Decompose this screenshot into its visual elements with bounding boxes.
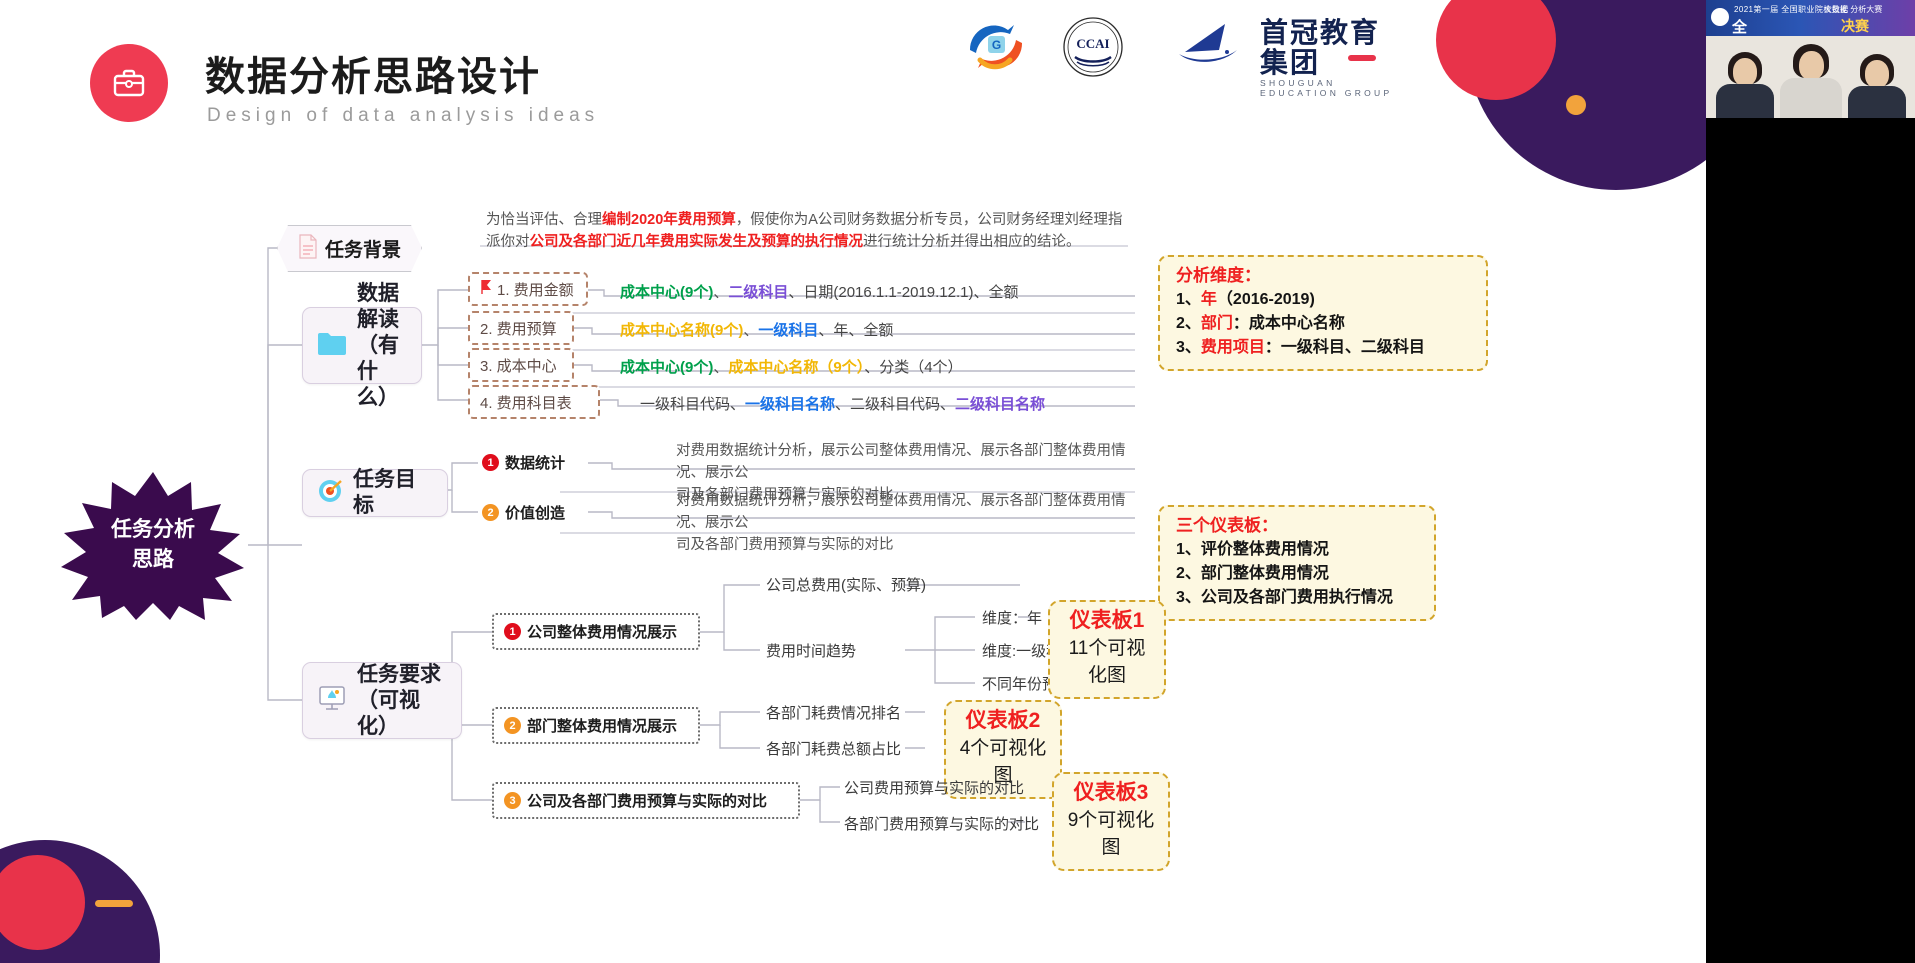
folder-icon bbox=[317, 330, 347, 361]
page-subtitle: Design of data analysis ideas bbox=[207, 105, 599, 127]
data-item-4[interactable]: 4. 费用科目表 bbox=[468, 385, 600, 419]
ccai-logo: CCAI bbox=[1062, 16, 1124, 78]
goal-item-1[interactable]: 1 数据统计 bbox=[482, 452, 565, 473]
req-2-child-2: 各部门耗费总额占比 bbox=[766, 738, 901, 759]
callout-line-2: 2、部门：成本中心名称 bbox=[1176, 312, 1472, 336]
node-task-background[interactable]: 任务背景 bbox=[277, 225, 422, 272]
data-item-1-label: 1. 费用金额 bbox=[497, 279, 574, 300]
req-1-title: 公司整体费用情况展示 bbox=[527, 621, 677, 642]
bg-p1b: ，假使你为A公司财务数据分析专员，公司财务经理刘经理指 bbox=[736, 212, 1123, 228]
target-icon bbox=[317, 478, 343, 509]
field-run-1: 一级科目名称 bbox=[745, 396, 835, 413]
req-2-number: 2 bbox=[504, 717, 521, 734]
di-l1: 数据解读 bbox=[357, 282, 399, 331]
field-run-3: 、年、全额 bbox=[818, 322, 893, 339]
dashboard-2-title: 仪表板2 bbox=[959, 707, 1047, 735]
bg-p2hl: 公司及各部门近几年费用实际发生及预算的执行情况 bbox=[530, 234, 864, 250]
participant-3 bbox=[1848, 54, 1906, 118]
bg-p2b: 进行统计分析并得出相应的结论。 bbox=[863, 234, 1081, 250]
requirement-item-3[interactable]: 3 公司及各部门费用预算与实际的对比 bbox=[492, 782, 800, 819]
node-task-requirement[interactable]: 任务要求 （可视化） bbox=[302, 662, 462, 739]
svg-text:CCAI: CCAI bbox=[1076, 36, 1109, 51]
decor-dot-orange bbox=[1566, 95, 1586, 115]
data-interpretation-label: 数据解读 （有什么） bbox=[357, 281, 407, 411]
data-item-2[interactable]: 2. 费用预算 bbox=[468, 311, 574, 345]
data-item-2-label: 2. 费用预算 bbox=[480, 318, 557, 339]
dashboard-1-title: 仪表板1 bbox=[1063, 607, 1151, 635]
page-title: 数据分析思路设计 bbox=[205, 44, 541, 102]
goal-2-number: 2 bbox=[482, 504, 499, 521]
dashboard-3-title: 仪表板3 bbox=[1067, 779, 1155, 807]
field-run-2: 、二级科目代码、 bbox=[835, 396, 955, 413]
goal-2-title: 价值创造 bbox=[505, 502, 565, 523]
bg-p2a: 派你对 bbox=[486, 234, 530, 250]
gear-g-logo: G bbox=[960, 16, 1032, 76]
data-item-3-label: 3. 成本中心 bbox=[480, 355, 557, 376]
field-run-1: 、 bbox=[743, 322, 758, 339]
dashboard-card-1: 仪表板1 11个可视化图 bbox=[1048, 600, 1166, 699]
banner-title-main: 全 bbox=[1732, 16, 1748, 37]
banner-title-accent: 决赛 bbox=[1841, 16, 1869, 36]
shouguan-en-text: SHOUGUAN EDUCATION GROUP bbox=[1260, 78, 1400, 98]
callout-dimensions: 分析维度： 1、年（2016-2019)2、部门：成本中心名称3、费用项目：一级… bbox=[1158, 255, 1488, 371]
dashboards-title: 三个仪表板： bbox=[1176, 514, 1420, 538]
req-3-title: 公司及各部门费用预算与实际的对比 bbox=[527, 790, 767, 811]
tr-l2: （可视化） bbox=[357, 689, 420, 738]
shouguan-cn-text: 首冠教育集团 bbox=[1260, 18, 1400, 78]
dimensions-title: 分析维度： bbox=[1176, 264, 1472, 288]
callout-line-2: 2、部门整体费用情况 bbox=[1176, 562, 1420, 586]
field-run-0: 成本中心(9个) bbox=[620, 359, 713, 376]
dashboards-lines: 1、评价整体费用情况2、部门整体费用情况3、公司及各部门费用执行情况 bbox=[1176, 538, 1420, 610]
task-requirement-label: 任务要求 （可视化） bbox=[357, 662, 447, 740]
participant-2 bbox=[1780, 44, 1842, 118]
req-1-sub-1: 维度：年 bbox=[982, 607, 1042, 628]
callout-line-1: 1、评价整体费用情况 bbox=[1176, 538, 1420, 562]
data-fields-3: 成本中心(9个)、成本中心名称（9个）、分类（4个） bbox=[620, 356, 963, 377]
goal-1-desc-l1: 对费用数据统计分析，展示公司整体费用情况、展示各部门整体费用情况、展示公 bbox=[676, 440, 1146, 484]
document-icon bbox=[298, 234, 318, 264]
node-data-interpretation[interactable]: 数据解读 （有什么） bbox=[302, 307, 422, 384]
svg-text:G: G bbox=[992, 38, 1001, 52]
field-run-2: 一级科目 bbox=[758, 322, 818, 339]
di-l2: （有什么） bbox=[357, 334, 399, 409]
field-run-2: 二级科目 bbox=[728, 284, 788, 301]
node-task-goal[interactable]: 任务目标 bbox=[302, 469, 448, 517]
callout-line-3: 3、费用项目：一级科目、二级科目 bbox=[1176, 336, 1472, 360]
goal-1-number: 1 bbox=[482, 454, 499, 471]
data-fields-4: 一级科目代码、一级科目名称、二级科目代码、二级科目名称 bbox=[640, 393, 1045, 414]
callout-line-3: 3、公司及各部门费用执行情况 bbox=[1176, 586, 1420, 610]
data-fields-2: 成本中心名称(9个)、一级科目、年、全额 bbox=[620, 319, 893, 340]
callout-line-1: 1、年（2016-2019) bbox=[1176, 288, 1472, 312]
root-line2: 思路 bbox=[132, 545, 174, 575]
goal-2-desc-l1: 对费用数据统计分析，展示公司整体费用情况、展示各部门整体费用情况、展示公 bbox=[676, 490, 1146, 534]
field-run-3: 二级科目名称 bbox=[955, 396, 1045, 413]
dashboard-1-subtitle: 11个可视化图 bbox=[1063, 635, 1151, 689]
tr-l1: 任务要求 bbox=[357, 663, 441, 686]
req-1-number: 1 bbox=[504, 623, 521, 640]
screenshot-root: 数据分析思路设计 Design of data analysis ideas G… bbox=[0, 0, 1915, 963]
dashboard-card-3: 仪表板3 9个可视化图 bbox=[1052, 772, 1170, 871]
task-goal-label: 任务目标 bbox=[353, 467, 433, 519]
req-1-child-1: 公司总费用(实际、预算) bbox=[766, 574, 926, 595]
root-label: 任务分析 思路 bbox=[58, 470, 248, 620]
req-2-title: 部门整体费用情况展示 bbox=[527, 715, 677, 736]
dashboard-3-subtitle: 9个可视化图 bbox=[1067, 807, 1155, 861]
requirement-item-2[interactable]: 2 部门整体费用情况展示 bbox=[492, 707, 700, 744]
requirement-item-1[interactable]: 1 公司整体费用情况展示 bbox=[492, 613, 700, 650]
field-run-1: 、 bbox=[713, 359, 728, 376]
callout-dashboards: 三个仪表板： 1、评价整体费用情况2、部门整体费用情况3、公司及各部门费用执行情… bbox=[1158, 505, 1436, 621]
decor-dash-orange-bottom bbox=[95, 900, 133, 907]
dimensions-lines: 1、年（2016-2019)2、部门：成本中心名称3、费用项目：一级科目、二级科… bbox=[1176, 288, 1472, 360]
field-run-3: 、分类（4个） bbox=[864, 359, 962, 376]
data-item-4-label: 4. 费用科目表 bbox=[480, 392, 572, 413]
data-fields-1: 成本中心(9个)、二级科目、日期(2016.1.1-2019.12.1)、全额 bbox=[620, 281, 1018, 302]
task-background-paragraph: 为恰当评估、合理编制2020年费用预算，假使你为A公司财务数据分析专员，公司财务… bbox=[486, 209, 1136, 253]
competition-logo-icon bbox=[1711, 8, 1729, 26]
webcam-panel[interactable]: 2021第一届 全国职业院校技能 大数据 分析大赛 全 决赛 bbox=[1706, 0, 1915, 963]
goal-2-desc-l2: 司及各部门费用预算与实际的对比 bbox=[676, 534, 1146, 556]
presentation-icon bbox=[317, 684, 347, 717]
field-run-2: 成本中心名称（9个） bbox=[728, 359, 864, 376]
bg-p1hl: 编制2020年费用预算 bbox=[602, 212, 736, 228]
root-line1: 任务分析 bbox=[111, 515, 195, 545]
field-run-1: 、 bbox=[713, 284, 728, 301]
goal-2-desc: 对费用数据统计分析，展示公司整体费用情况、展示各部门整体费用情况、展示公 司及各… bbox=[676, 490, 1146, 556]
field-run-0: 成本中心(9个) bbox=[620, 284, 713, 301]
participant-1 bbox=[1716, 52, 1774, 118]
webcam-video[interactable]: 2021第一届 全国职业院校技能 大数据 分析大赛 全 决赛 bbox=[1706, 0, 1915, 118]
req-3-child-1: 公司费用预算与实际的对比 bbox=[844, 777, 1024, 798]
root-node[interactable]: 任务分析 思路 bbox=[58, 470, 248, 620]
field-run-0: 成本中心名称(9个) bbox=[620, 322, 743, 339]
banner-text-right: 大数据 分析大赛 bbox=[1824, 5, 1882, 15]
data-item-3[interactable]: 3. 成本中心 bbox=[468, 348, 574, 382]
req-1-child-2: 费用时间趋势 bbox=[766, 640, 856, 661]
red-flag-icon bbox=[480, 279, 493, 299]
shouguan-logo: 首冠教育集团 SHOUGUAN EDUCATION GROUP bbox=[1175, 16, 1400, 74]
req-2-child-1: 各部门耗费情况排名 bbox=[766, 702, 901, 723]
slide-canvas: 数据分析思路设计 Design of data analysis ideas G… bbox=[0, 0, 1706, 963]
field-run-3: 、日期(2016.1.1-2019.12.1)、全额 bbox=[788, 284, 1018, 301]
briefcase-icon bbox=[90, 44, 168, 122]
field-run-0: 一级科目代码、 bbox=[640, 396, 745, 413]
bg-p1a: 为恰当评估、合理 bbox=[486, 212, 602, 228]
req-3-number: 3 bbox=[504, 792, 521, 809]
req-3-child-2: 各部门费用预算与实际的对比 bbox=[844, 813, 1039, 834]
data-item-1[interactable]: 1. 费用金额 bbox=[468, 272, 588, 306]
goal-1-title: 数据统计 bbox=[505, 452, 565, 473]
goal-item-2[interactable]: 2 价值创造 bbox=[482, 502, 565, 523]
task-background-label: 任务背景 bbox=[325, 235, 401, 262]
